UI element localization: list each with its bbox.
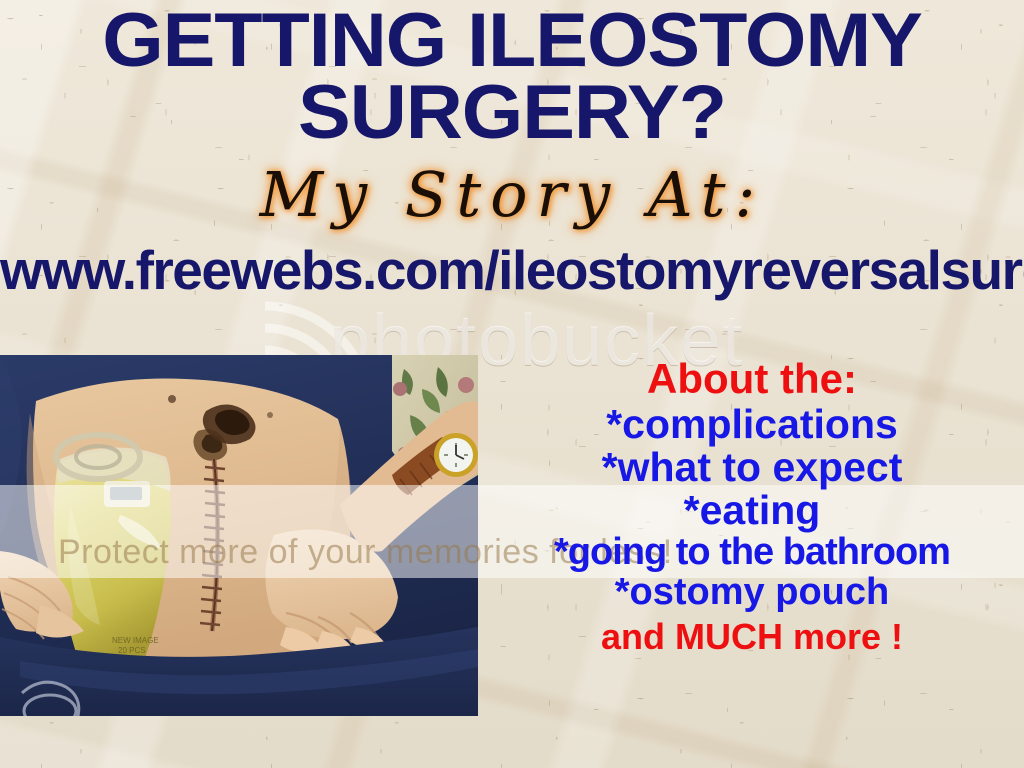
bullet-eating: *eating: [480, 490, 1024, 531]
bullet-going-to-the-bathroom: *going to the bathroom: [480, 533, 1024, 571]
bullet-complications: *complications: [480, 404, 1024, 445]
bullet-ostomy-pouch: *ostomy pouch: [480, 573, 1024, 611]
pouch-label-line1: NEW IMAGE: [112, 636, 159, 645]
my-story-at-line: My Story At:: [0, 158, 1024, 231]
headline-line-2: SURGERY?: [0, 78, 1024, 148]
headline-line-1: GETTING ILEOSTOMY: [0, 6, 1024, 76]
ostomy-photo-illustration: NEW IMAGE 20 PCS HOLLISTER: [0, 355, 478, 716]
website-url-text: www.freewebs.com/ileostomyreversalsurger…: [0, 238, 1024, 302]
bullet-what-to-expect: *what to expect: [480, 447, 1024, 488]
poster-image: photobucket GETTING ILEOSTOMY SURGERY? M…: [0, 0, 1024, 768]
and-much-more-label: and MUCH more !: [480, 619, 1024, 655]
ostomy-photo: NEW IMAGE 20 PCS HOLLISTER: [0, 355, 478, 716]
pouch-label-line2: 20 PCS: [118, 646, 146, 655]
features-list: About the: *complications *what to expec…: [480, 358, 1024, 655]
about-the-label: About the:: [480, 358, 1024, 400]
